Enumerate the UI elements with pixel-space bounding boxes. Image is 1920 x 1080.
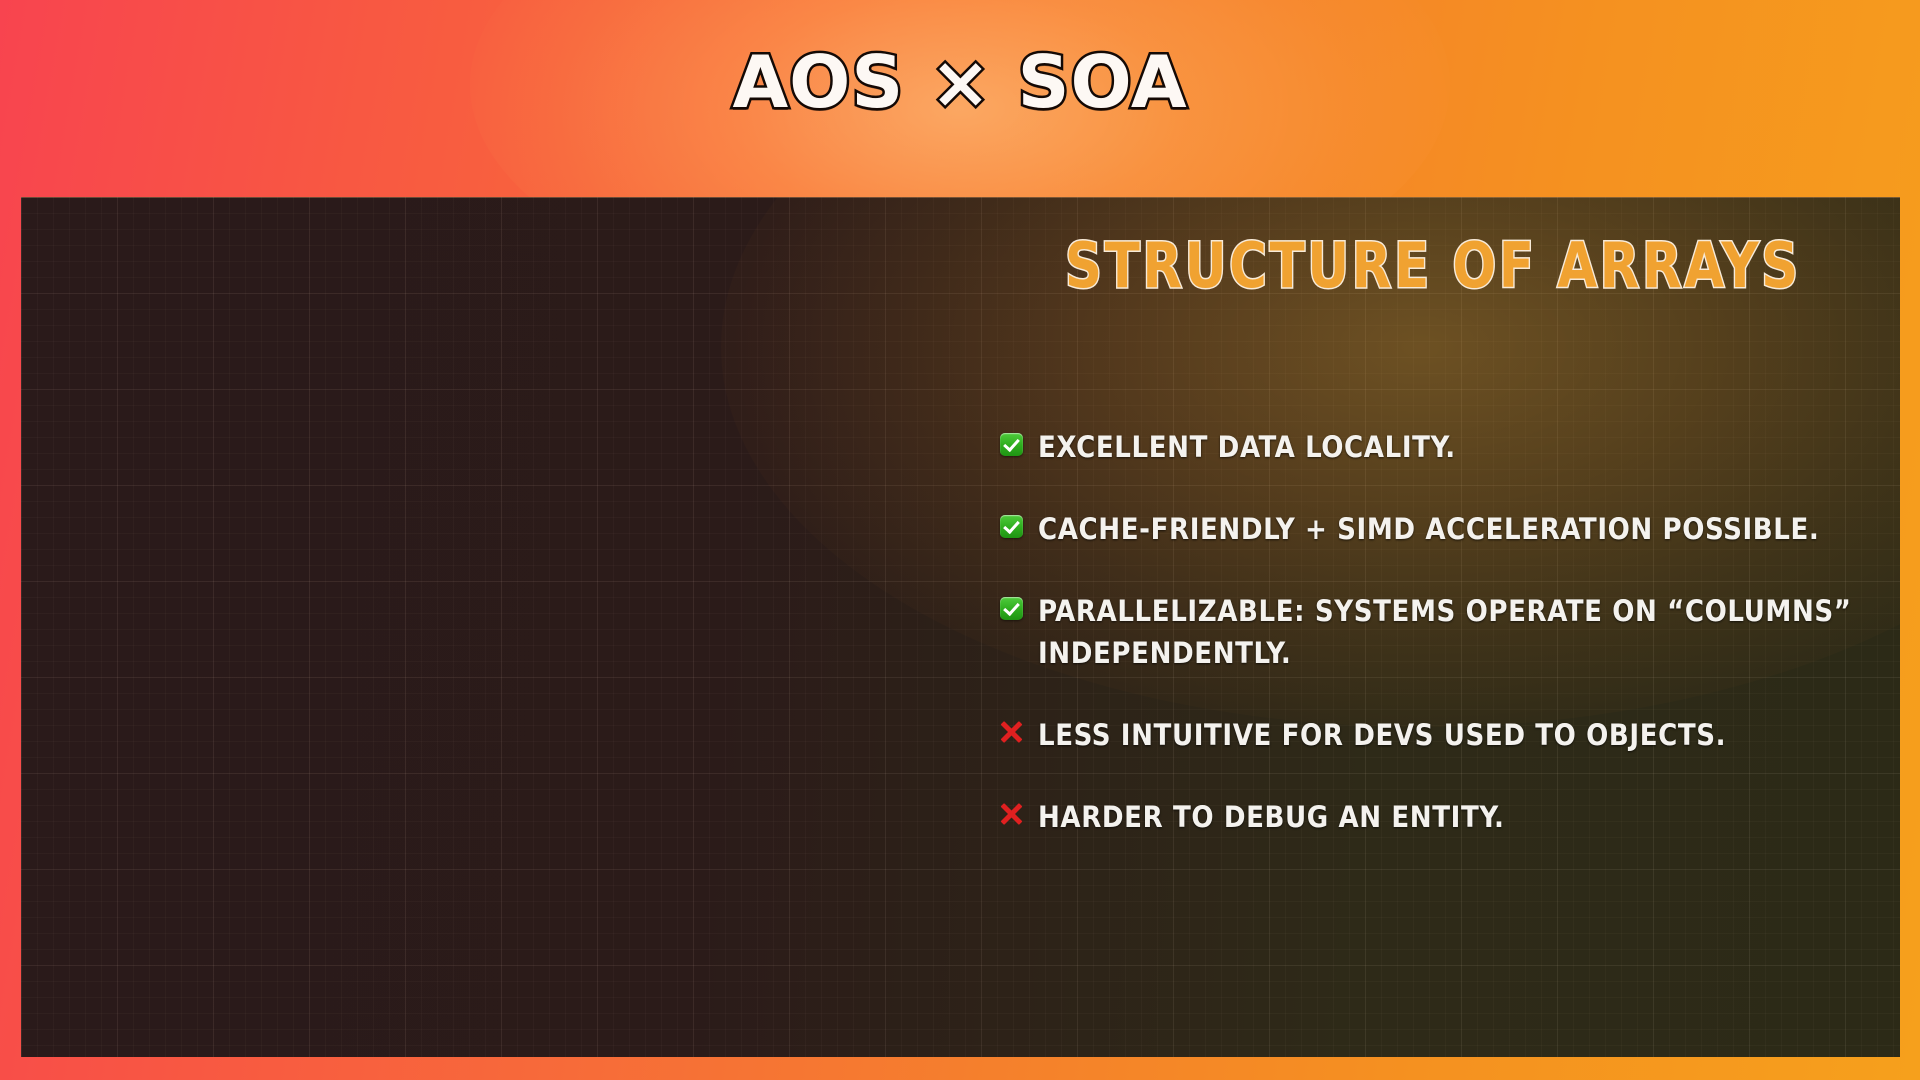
list-item: HARDER TO DEBUG AN ENTITY. [996,797,1860,838]
list-item: LESS INTUITIVE FOR DEVS USED TO OBJECTS. [996,715,1860,756]
check-icon [996,427,1026,461]
list-item-label: EXCELLENT DATA LOCALITY. [1038,427,1456,468]
slide-root: AOS × SOA STRUCTURE OF ARRAYS EXCELLENT … [0,0,1920,1080]
cross-icon [996,797,1026,831]
check-icon [996,509,1026,543]
illustration-pane [21,197,996,1057]
text-pane: STRUCTURE OF ARRAYS EXCELLENT DATA LOCAL… [996,197,1900,1057]
content-panel: STRUCTURE OF ARRAYS EXCELLENT DATA LOCAL… [21,197,1900,1057]
page-title: AOS × SOA [0,40,1920,124]
list-item-label: HARDER TO DEBUG AN ENTITY. [1038,797,1505,838]
list-item: PARALLELIZABLE: SYSTEMS OPERATE ON “COLU… [996,591,1860,673]
list-item: CACHE-FRIENDLY + SIMD ACCELERATION POSSI… [996,509,1860,550]
panel-inner: STRUCTURE OF ARRAYS EXCELLENT DATA LOCAL… [21,197,1900,1057]
bullet-list: EXCELLENT DATA LOCALITY. CACHE-FRIENDLY … [996,427,1860,879]
check-icon [996,591,1026,625]
cross-icon [996,715,1026,749]
section-heading: STRUCTURE OF ARRAYS [1031,235,1835,297]
list-item: EXCELLENT DATA LOCALITY. [996,427,1860,468]
list-item-label: PARALLELIZABLE: SYSTEMS OPERATE ON “COLU… [1038,591,1860,673]
list-item-label: CACHE-FRIENDLY + SIMD ACCELERATION POSSI… [1038,509,1819,550]
list-item-label: LESS INTUITIVE FOR DEVS USED TO OBJECTS. [1038,715,1726,756]
